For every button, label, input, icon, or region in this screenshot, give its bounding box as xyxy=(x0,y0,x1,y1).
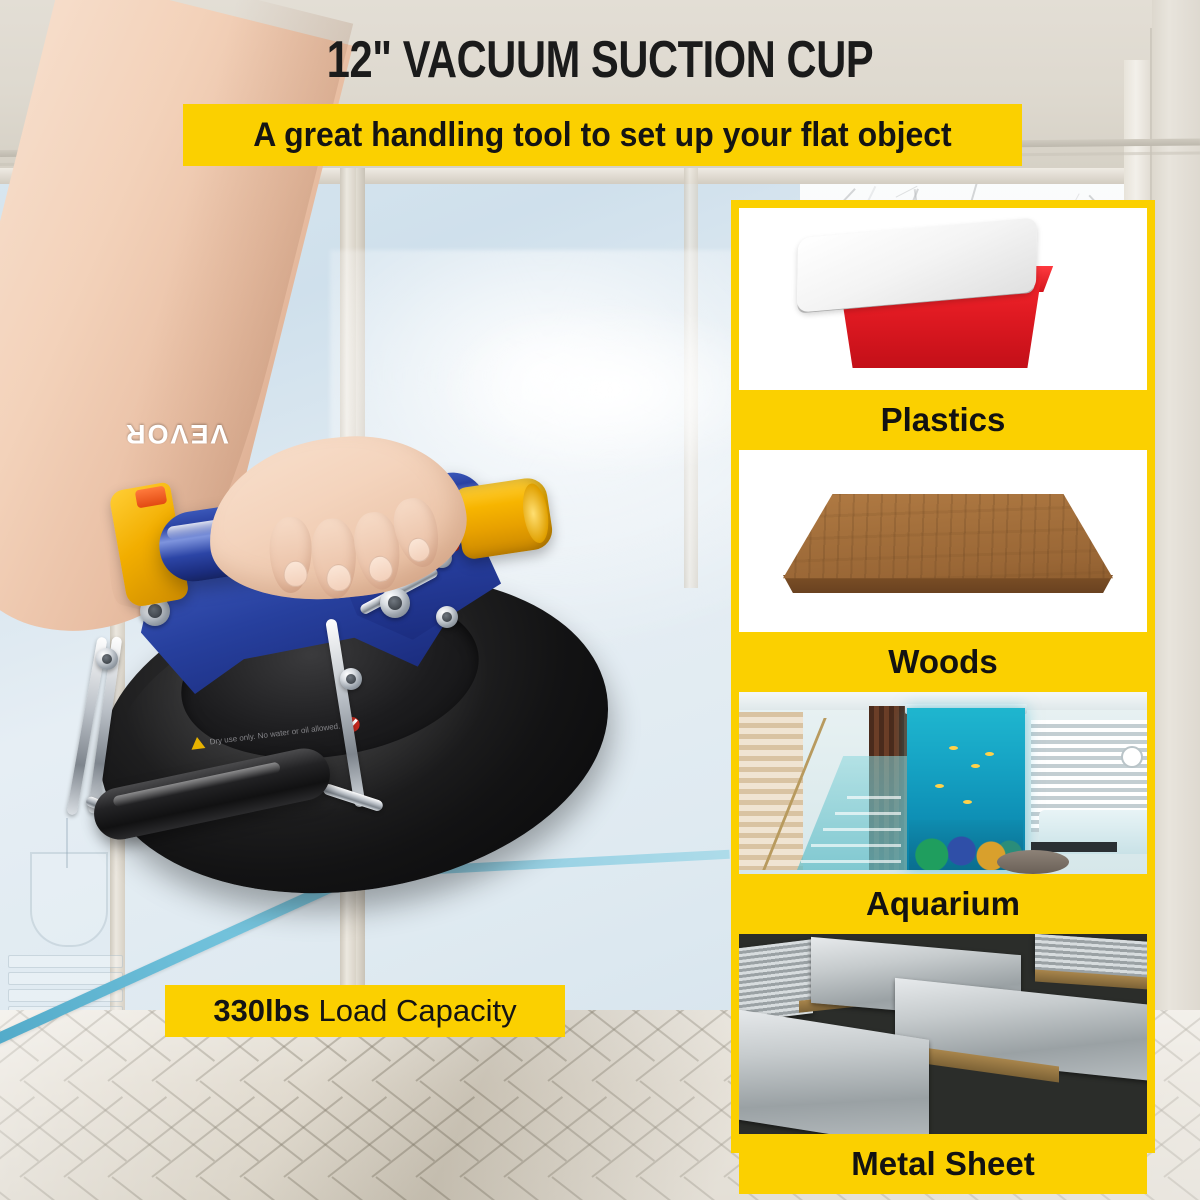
page-title: 12" VACUUM SUCTION CUP xyxy=(120,30,1080,90)
ottoman xyxy=(997,850,1069,874)
hex-bolt xyxy=(340,668,362,690)
hex-bolt xyxy=(436,606,458,628)
metal-sheet-image xyxy=(739,934,1147,1134)
use-case-panel: Plastics Woods xyxy=(731,200,1155,1153)
load-capacity-label: Load Capacity xyxy=(310,993,517,1028)
load-capacity-badge: 330lbs Load Capacity xyxy=(165,985,565,1037)
hex-bolt xyxy=(96,648,118,670)
use-case-aquarium[interactable]: Aquarium xyxy=(739,692,1147,934)
plunger-knob[interactable] xyxy=(453,476,555,561)
subtitle-banner: A great handling tool to set up your fla… xyxy=(183,104,1022,166)
warning-triangle-icon xyxy=(190,736,205,750)
load-capacity-text: 330lbs Load Capacity xyxy=(213,993,516,1029)
use-case-metal-sheet[interactable]: Metal Sheet xyxy=(739,934,1147,1194)
subtitle-text: A great handling tool to set up your fla… xyxy=(253,116,951,155)
plastics-image xyxy=(739,208,1147,390)
wall-clock-icon xyxy=(1121,746,1143,768)
aquarium-image xyxy=(739,692,1147,874)
woods-image xyxy=(739,450,1147,632)
load-capacity-value: 330lbs xyxy=(213,993,310,1028)
use-case-plastics[interactable]: Plastics xyxy=(739,208,1147,450)
metal-yard xyxy=(739,934,1147,1134)
use-case-label: Aquarium xyxy=(739,874,1147,934)
use-case-woods[interactable]: Woods xyxy=(739,450,1147,692)
wood-plank xyxy=(783,494,1113,592)
brand-logo: VEVOR xyxy=(124,418,229,449)
use-case-label: Plastics xyxy=(739,390,1147,450)
use-case-label: Metal Sheet xyxy=(739,1134,1147,1194)
vacuum-suction-cup-product: GLASS SUCTION Dry use only. No water or … xyxy=(40,400,660,920)
use-case-label: Woods xyxy=(739,632,1147,692)
wall-right xyxy=(1152,0,1200,1080)
aquarium-room xyxy=(739,692,1147,874)
hex-bolt xyxy=(380,588,410,618)
